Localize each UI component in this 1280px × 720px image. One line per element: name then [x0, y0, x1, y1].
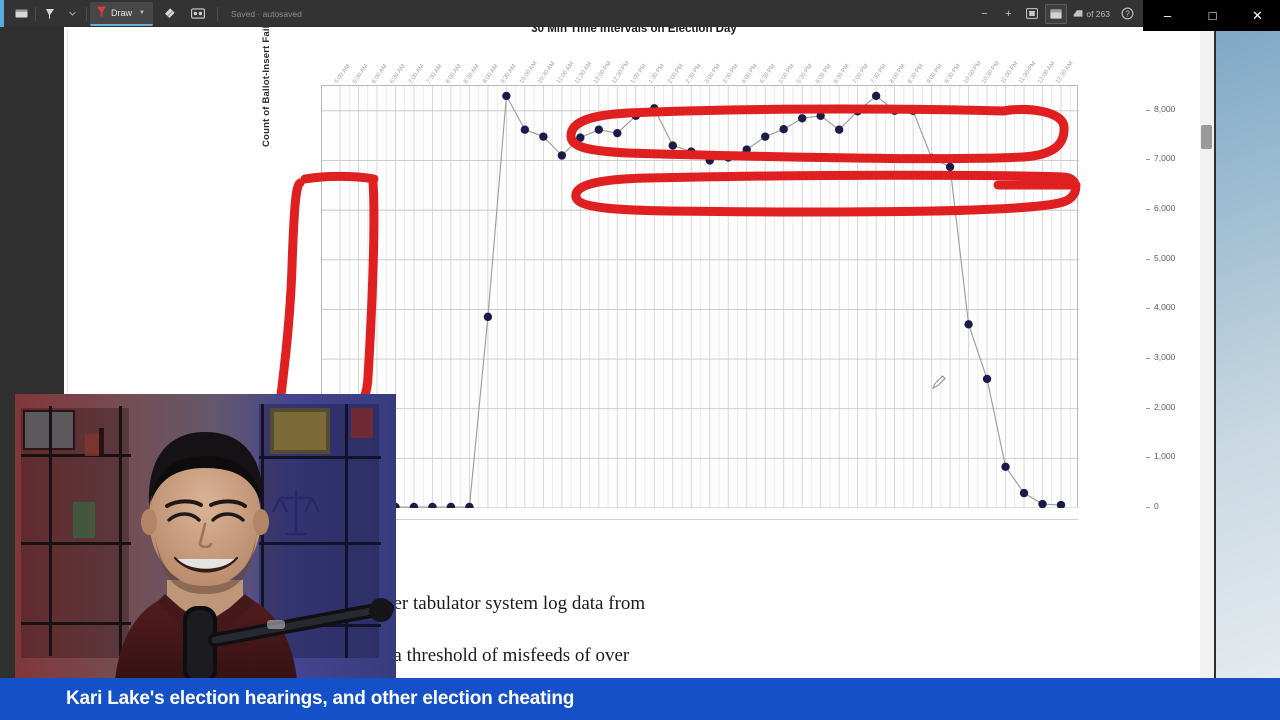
pencil-cursor-icon — [930, 373, 948, 391]
data-point — [872, 92, 880, 100]
data-point — [743, 145, 751, 153]
x-tick-label: 10:30 PM — [981, 61, 1001, 85]
x-tick-label: 8:30 AM — [463, 64, 481, 85]
toolbar-divider-2 — [86, 7, 87, 21]
data-point — [410, 503, 418, 508]
data-point — [964, 320, 972, 328]
data-point — [502, 92, 510, 100]
x-tick-label: 10:30 AM — [537, 61, 556, 85]
page-indicator[interactable]: of 263 — [1069, 9, 1114, 19]
page-indicator-label: of 263 — [1086, 9, 1110, 19]
x-tick-label: 8:30 PM — [907, 63, 925, 85]
zoom-in-button[interactable]: + — [997, 4, 1019, 24]
toolbar-accent-bar — [0, 0, 4, 27]
data-point — [835, 125, 843, 133]
x-tick-label: 6:00 AM — [371, 64, 389, 85]
x-tick-label: 2:00 PM — [667, 63, 685, 85]
data-point — [1057, 501, 1065, 508]
webcam-overlay — [15, 394, 396, 680]
x-tick-label: 12:30 AM — [1055, 61, 1074, 85]
data-point — [521, 125, 529, 133]
x-tick-label: 11:00 PM — [1000, 61, 1019, 85]
x-tick-label: 1:30 PM — [648, 63, 666, 85]
data-point — [447, 503, 455, 508]
data-point — [946, 163, 954, 171]
x-tick-label: 1:00 PM — [630, 63, 648, 85]
zoom-out-button[interactable]: − — [973, 4, 995, 24]
y-tick-right: 5,000 — [1154, 253, 1196, 263]
data-point — [669, 141, 677, 149]
x-tick-label: 7:30 AM — [427, 64, 445, 85]
x-tick-label: 4:30 PM — [759, 63, 777, 85]
x-tick-label: 12:30 PM — [611, 61, 631, 85]
page-view-button[interactable] — [1045, 4, 1067, 24]
tab-draw[interactable]: Draw ▼ — [90, 2, 153, 26]
x-tick-label: 5:00 AM — [334, 64, 352, 85]
screen-root: Draw ▼ Saved · autosaved − + — [0, 0, 1280, 720]
x-tick-label: 3:30 PM — [722, 63, 740, 85]
x-tick-label: 8:00 PM — [889, 63, 907, 85]
minimize-button[interactable]: – — [1145, 0, 1190, 31]
x-tick-label: 9:30 PM — [944, 63, 962, 85]
toolbar-divider — [35, 7, 36, 21]
data-point — [650, 104, 658, 112]
y-tickmark-right — [1146, 408, 1150, 409]
chart-y-axis-label: Count of Ballot-Insert Failures — [261, 27, 272, 147]
data-point — [1020, 489, 1028, 497]
x-tick-label: 12:00 AM — [1037, 61, 1056, 85]
chart-bottom-rule — [321, 519, 1078, 520]
svg-text:?: ? — [1125, 10, 1130, 19]
data-point — [798, 114, 806, 122]
y-axis-bracket-left — [278, 183, 300, 419]
x-tick-label: 11:00 AM — [556, 61, 575, 85]
highlight-tool-icon[interactable] — [39, 0, 61, 27]
y-tick-right: 3,000 — [1154, 352, 1196, 362]
chevron-down-icon-draw[interactable]: ▼ — [139, 10, 145, 16]
data-point — [613, 129, 621, 137]
data-point — [632, 112, 640, 120]
data-point — [465, 503, 473, 508]
data-point — [853, 107, 861, 115]
x-tick-label: 9:00 PM — [926, 63, 944, 85]
y-tickmark-right — [1146, 209, 1150, 210]
data-point — [576, 133, 584, 141]
pen-icon — [96, 6, 107, 20]
shapes-icon[interactable] — [187, 0, 209, 27]
y-tickmark-right — [1146, 358, 1150, 359]
x-tick-label: 5:30 PM — [796, 63, 814, 85]
data-point — [816, 112, 824, 120]
data-point — [595, 125, 603, 133]
y-tick-right: 0 — [1154, 501, 1196, 511]
x-tick-label: 5:30 AM — [353, 64, 371, 85]
save-status-text: Saved · autosaved — [221, 9, 302, 19]
x-tick-label: 4:00 PM — [741, 63, 759, 85]
y-tick-right: 7,000 — [1154, 153, 1196, 163]
close-button[interactable]: ✕ — [1235, 0, 1280, 31]
webcam-video-frame — [15, 394, 396, 680]
x-tick-label: 12:00 PM — [593, 61, 613, 85]
x-tick-label: 6:30 AM — [390, 64, 408, 85]
fit-page-button[interactable] — [1021, 4, 1043, 24]
x-tick-label: 7:00 AM — [408, 64, 426, 85]
x-tick-label: 7:00 PM — [852, 63, 870, 85]
x-tick-label: 7:30 PM — [870, 63, 888, 85]
data-point — [428, 503, 436, 508]
data-point — [687, 147, 695, 155]
y-tick-right: 1,000 — [1154, 451, 1196, 461]
y-tickmark-right — [1146, 259, 1150, 260]
page-icon — [1073, 9, 1083, 18]
x-tick-label: 9:00 AM — [482, 64, 500, 85]
data-point — [539, 132, 547, 140]
vertical-scrollbar-thumb[interactable] — [1201, 125, 1212, 149]
chart-series-svg — [322, 86, 1079, 508]
y-tick-right: 2,000 — [1154, 402, 1196, 412]
x-tick-label: 5:00 PM — [778, 63, 796, 85]
maximize-button[interactable]: □ — [1190, 0, 1235, 31]
tab-draw-label: Draw — [111, 8, 132, 18]
data-point — [779, 125, 787, 133]
x-tick-label: 3:00 PM — [704, 63, 722, 85]
help-icon[interactable]: ? — [1116, 4, 1138, 24]
x-tick-label: 11:30 PM — [1018, 61, 1037, 85]
data-point — [927, 154, 935, 162]
x-tick-label: 8:00 AM — [445, 64, 463, 85]
data-point — [890, 107, 898, 115]
data-point — [761, 132, 769, 140]
x-tick-label: 10:00 AM — [519, 61, 538, 85]
chart-plot-area — [321, 85, 1078, 507]
y-tick-right: 8,000 — [1154, 104, 1196, 114]
app-menu-icon[interactable] — [10, 0, 32, 27]
x-tick-label: 6:30 PM — [833, 63, 851, 85]
window-controls: – □ ✕ — [1143, 0, 1280, 31]
x-tick-label: 9:30 AM — [500, 64, 518, 85]
y-tickmark-right — [1146, 507, 1150, 508]
y-tickmark-right — [1146, 308, 1150, 309]
toolbar: Draw ▼ Saved · autosaved − + — [0, 0, 1216, 27]
y-tickmark-right — [1146, 159, 1150, 160]
data-point — [558, 151, 566, 159]
x-tick-label: 10:00 PM — [963, 61, 983, 85]
chevron-down-icon[interactable] — [61, 0, 83, 27]
toolbar-right-group: − + of 263 ? — [973, 0, 1138, 27]
x-tick-label: 11:30 AM — [574, 61, 593, 85]
data-point — [1001, 463, 1009, 471]
y-tick-right: 6,000 — [1154, 203, 1196, 213]
data-point — [724, 153, 732, 161]
y-tickmark-right — [1146, 110, 1150, 111]
caption-bar: Kari Lake's election hearings, and other… — [0, 678, 1280, 720]
data-point — [983, 375, 991, 383]
data-point — [706, 156, 714, 164]
toolbar-divider-3 — [217, 7, 218, 21]
x-tick-label: 2:30 PM — [685, 63, 703, 85]
eraser-icon[interactable] — [159, 0, 181, 27]
data-point — [909, 107, 917, 115]
y-tickmark-right — [1146, 457, 1150, 458]
caption-text: Kari Lake's election hearings, and other… — [0, 688, 574, 710]
y-tick-right: 4,000 — [1154, 302, 1196, 312]
x-tick-label: 6:00 PM — [815, 63, 833, 85]
data-point — [484, 313, 492, 321]
data-point — [1038, 500, 1046, 508]
